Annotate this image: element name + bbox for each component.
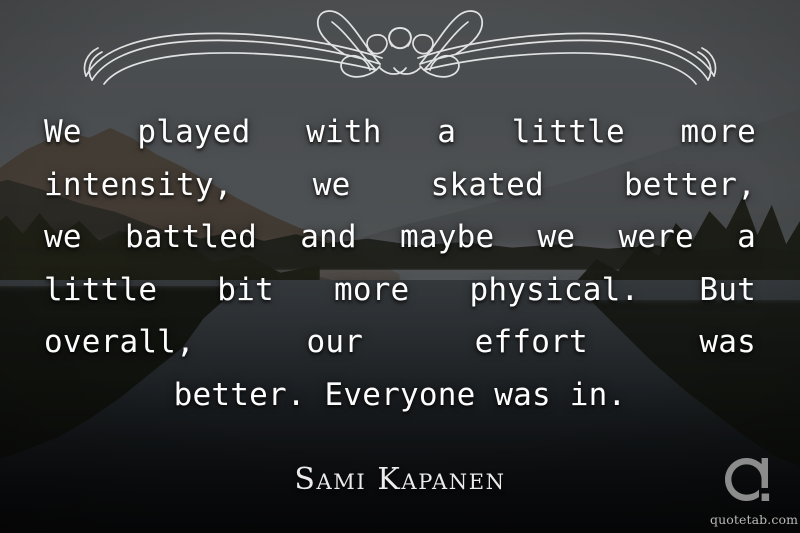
- quote-word: overall,: [44, 316, 195, 369]
- watermark[interactable]: quotetab.com: [710, 455, 790, 527]
- quote-word: maybe: [400, 211, 494, 264]
- quote-word: more: [334, 264, 409, 317]
- quote-text: Weplayedwithalittlemoreintensity,weskate…: [44, 106, 756, 421]
- quote-word: with: [306, 106, 381, 159]
- quote-line: littlebitmorephysical.But: [44, 264, 756, 317]
- quotetab-q-logo-icon: [722, 455, 778, 511]
- quote-word: we: [44, 211, 82, 264]
- quote-line: better. Everyone was in.: [44, 369, 756, 422]
- quote-word: a: [737, 211, 756, 264]
- quote-line: webattledandmaybewewerea: [44, 211, 756, 264]
- quote-word: bit: [217, 264, 274, 317]
- quote-line: Weplayedwithalittlemore: [44, 106, 756, 159]
- quote-word: was: [699, 316, 756, 369]
- quote-word: battled: [125, 211, 257, 264]
- quote-image-card: Weplayedwithalittlemoreintensity,weskate…: [0, 0, 800, 533]
- quote-word: we: [313, 159, 351, 212]
- quote-word: and: [300, 211, 357, 264]
- quote-word: our: [306, 316, 363, 369]
- quote-word: physical.: [470, 264, 640, 317]
- quote-word: We: [44, 106, 82, 159]
- quote-word: intensity,: [44, 159, 233, 212]
- quote-author: Sami Kapanen: [0, 462, 800, 497]
- watermark-site-label: quotetab.com: [710, 512, 790, 527]
- quote-word: effort: [475, 316, 588, 369]
- quote-word: more: [681, 106, 756, 159]
- quote-word: better,: [624, 159, 756, 212]
- quote-word: little: [512, 106, 625, 159]
- quote-word: we: [538, 211, 576, 264]
- quote-word: skated: [431, 159, 544, 212]
- quote-word: little: [44, 264, 157, 317]
- quote-word: a: [437, 106, 456, 159]
- quote-word: played: [137, 106, 250, 159]
- quote-word: But: [699, 264, 756, 317]
- flourish-ornament-icon: [80, 8, 720, 86]
- quote-line: overall,oureffortwas: [44, 316, 756, 369]
- quote-word: were: [618, 211, 693, 264]
- quote-line: intensity,weskatedbetter,: [44, 159, 756, 212]
